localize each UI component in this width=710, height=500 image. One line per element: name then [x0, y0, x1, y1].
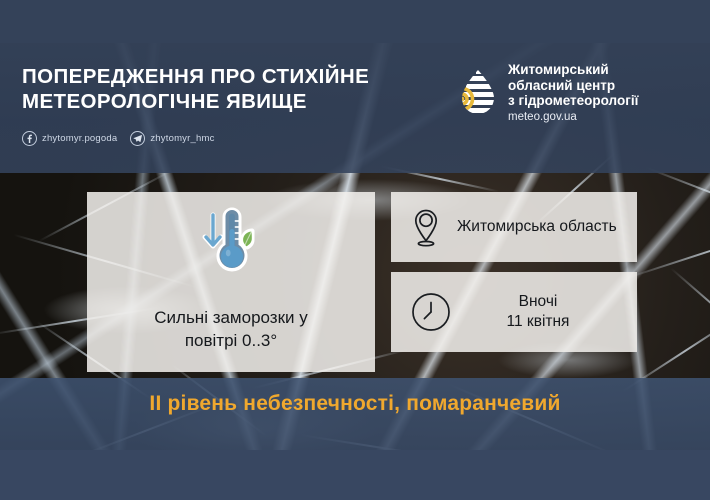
logo-line-2: обласний центр — [508, 78, 638, 94]
logo-line-3: з гідрометеорології — [508, 93, 638, 109]
bottom-navy-band — [0, 450, 710, 500]
headline-line-2: МЕТЕОРОЛОГІЧНЕ ЯВИЩЕ — [22, 89, 452, 114]
logo-website: meteo.gov.ua — [508, 109, 638, 125]
weather-warning-poster: ПОПЕРЕДЖЕННЯ ПРО СТИХІЙНЕ МЕТЕОРОЛОГІЧНЕ… — [0, 0, 710, 500]
falling-temperature-thermometer-icon — [194, 205, 268, 277]
headline-line-1: ПОПЕРЕДЖЕННЯ ПРО СТИХІЙНЕ — [22, 64, 452, 89]
danger-level-banner: ІІ рівень небезпечності, помаранчевий — [0, 392, 710, 416]
hazard-description: Сильні заморозки у повітрі 0..3° — [154, 306, 308, 352]
facebook-handle: zhytomyr.pogoda — [42, 133, 117, 144]
time-label-line-2: 11 квітня — [467, 312, 609, 332]
logo-text-block: Житомирський обласний центр з гідрометео… — [508, 62, 638, 125]
telegram-icon — [130, 131, 145, 146]
map-pin-icon — [409, 205, 443, 249]
social-link-facebook[interactable]: zhytomyr.pogoda — [22, 131, 117, 146]
telegram-handle: zhytomyr_hmc — [150, 133, 214, 144]
hazard-text-line-2: повітрі 0..3° — [154, 329, 308, 352]
logo-line-1: Житомирський — [508, 62, 638, 78]
hazard-text-line-1: Сильні заморозки у — [154, 306, 308, 329]
time-label: Вночі 11 квітня — [467, 292, 637, 332]
social-link-telegram[interactable]: zhytomyr_hmc — [130, 131, 214, 146]
clock-icon — [409, 290, 453, 334]
time-label-line-1: Вночі — [467, 292, 609, 312]
top-navy-band — [0, 0, 710, 43]
region-label: Житомирська область — [457, 217, 617, 237]
region-card: Житомирська область — [391, 192, 637, 262]
facebook-icon — [22, 131, 37, 146]
social-links: zhytomyr.pogoda zhytomyr_hmc — [22, 131, 215, 146]
hydrometeorology-droplet-logo-icon — [458, 68, 498, 118]
time-card: Вночі 11 квітня — [391, 272, 637, 352]
page-title: ПОПЕРЕДЖЕННЯ ПРО СТИХІЙНЕ МЕТЕОРОЛОГІЧНЕ… — [22, 64, 452, 114]
hazard-card: Сильні заморозки у повітрі 0..3° — [87, 192, 375, 372]
organization-logo[interactable]: Житомирський обласний центр з гідрометео… — [458, 62, 638, 125]
